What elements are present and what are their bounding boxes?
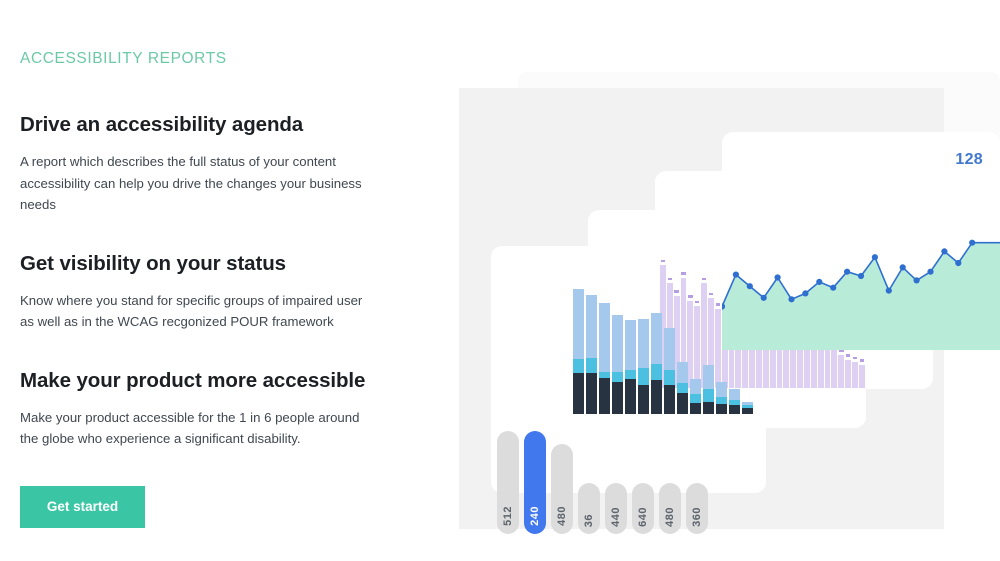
pill-label-text: 640 [632,507,654,527]
line-data-point [941,248,947,254]
line-data-point [733,272,739,278]
line-data-point [872,254,878,260]
purple-bar-fill [852,362,858,388]
stacked-bar-chart [573,289,753,414]
stacked-bar [638,319,649,414]
line-data-point [775,274,781,280]
stacked-bar [586,295,597,414]
page-root: ACCESSIBILITY REPORTS Drive an accessibi… [0,0,1000,561]
stack-segment-bottom [677,393,688,414]
feature-title-2: Get visibility on your status [20,252,420,276]
stacked-bar [716,382,727,415]
line-data-point [844,269,850,275]
purple-bar-fill [831,350,837,388]
line-data-point [816,279,822,285]
pill-label-512-0[interactable]: 512 [497,431,519,534]
stack-segment-bottom [664,385,675,414]
pill-label-440-4[interactable]: 440 [605,483,627,534]
pill-label-480-6[interactable]: 480 [659,483,681,534]
left-content-column: ACCESSIBILITY REPORTS Drive an accessibi… [20,50,420,528]
stack-segment-top [599,303,610,372]
stack-segment-bottom [625,379,636,414]
pill-label-row: 51224048036440640480360 [497,431,708,534]
pill-label-text: 480 [551,506,573,526]
stack-segment-top [651,313,662,364]
stack-segment-top [729,389,740,400]
purple-bar-fill [825,344,831,388]
stack-segment-middle [625,370,636,379]
pill-label-text: 36 [578,514,600,527]
stack-segment-middle [664,370,675,385]
feature-title-3: Make your product more accessible [20,369,420,393]
stack-segment-top [573,289,584,359]
stack-segment-bottom [742,408,753,414]
feature-block-3: Make your product more accessible Make y… [20,369,420,450]
stack-segment-bottom [651,380,662,414]
stack-segment-middle [690,394,701,403]
purple-bar-fill [859,365,865,388]
line-data-point [955,260,961,266]
stack-segment-top [703,365,714,389]
stacked-bar [625,320,636,414]
line-data-point [830,285,836,291]
line-data-point [927,269,933,275]
stack-segment-bottom [573,373,584,414]
pill-label-text: 360 [686,507,708,527]
purple-bar-cap [681,272,685,275]
purple-bar-cap [860,359,864,362]
stack-segment-bottom [716,404,727,414]
stack-segment-top [625,320,636,370]
line-data-point [886,288,892,294]
stack-segment-middle [716,397,727,405]
line-data-point [761,295,767,301]
purple-bar-cap [668,278,672,281]
purple-bar-cap [846,354,850,357]
stack-segment-bottom [586,373,597,414]
pill-label-240-1[interactable]: 240 [524,431,546,534]
stack-segment-top [586,295,597,358]
purple-bar-fill [838,355,844,388]
stack-segment-middle [573,359,584,373]
section-eyebrow-label: ACCESSIBILITY REPORTS [20,50,420,68]
pill-label-text: 440 [605,507,627,527]
stacked-bar [612,315,623,414]
stacked-bar [664,328,675,414]
feature-description-3: Make your product accessible for the 1 i… [20,407,372,450]
line-data-point [802,290,808,296]
pill-label-36-3[interactable]: 36 [578,483,600,534]
line-data-point [900,264,906,270]
pill-label-360-7[interactable]: 360 [686,483,708,534]
line-data-point [788,296,794,302]
stack-segment-middle [651,364,662,380]
stacked-bar [573,289,584,414]
pill-label-text: 512 [497,506,519,526]
pill-label-text: 240 [524,506,546,526]
feature-description-2: Know where you stand for specific groups… [20,290,372,333]
pill-label-640-5[interactable]: 640 [632,483,654,534]
stack-segment-middle [638,368,649,386]
stacked-bar [599,303,610,414]
purple-bar-fill [845,360,851,388]
line-data-point [858,273,864,279]
stack-segment-bottom [599,378,610,414]
line-data-point [969,240,975,246]
stack-segment-bottom [690,403,701,414]
stack-segment-bottom [729,405,740,414]
pill-label-480-2[interactable]: 480 [551,444,573,534]
line-data-point [914,277,920,283]
feature-block-2: Get visibility on your status Know where… [20,252,420,333]
stack-segment-middle [612,372,623,382]
stack-segment-top [638,319,649,368]
pill-label-text: 480 [659,507,681,527]
dashboard-illustration: 128 51224048036440640480360 [455,60,1000,535]
stack-segment-bottom [703,402,714,415]
stacked-bar [742,402,753,415]
metric-value-128: 128 [955,151,983,169]
feature-description-1: A report which describes the full status… [20,151,372,216]
feature-title-1: Drive an accessibility agenda [20,113,420,137]
get-started-button[interactable]: Get started [20,486,145,528]
stacked-bar [677,362,688,415]
feature-block-1: Drive an accessibility agenda A report w… [20,113,420,216]
stack-segment-middle [586,358,597,373]
stack-segment-top [677,362,688,383]
stack-segment-top [664,328,675,371]
stacked-bar [651,313,662,414]
purple-bar-cap [702,278,706,281]
stacked-bar [729,389,740,414]
stack-segment-middle [677,383,688,393]
stack-segment-bottom [638,385,649,414]
stack-segment-bottom [612,382,623,415]
purple-bar-cap [661,260,665,263]
purple-bar-cap [853,357,857,360]
stacked-bar [690,379,701,414]
stack-segment-top [690,379,701,394]
stack-segment-top [612,315,623,371]
stacked-bar [703,365,714,414]
stack-segment-middle [703,389,714,402]
stack-segment-top [716,382,727,397]
line-area-chart [722,205,1000,350]
area-chart-svg [722,205,1000,350]
